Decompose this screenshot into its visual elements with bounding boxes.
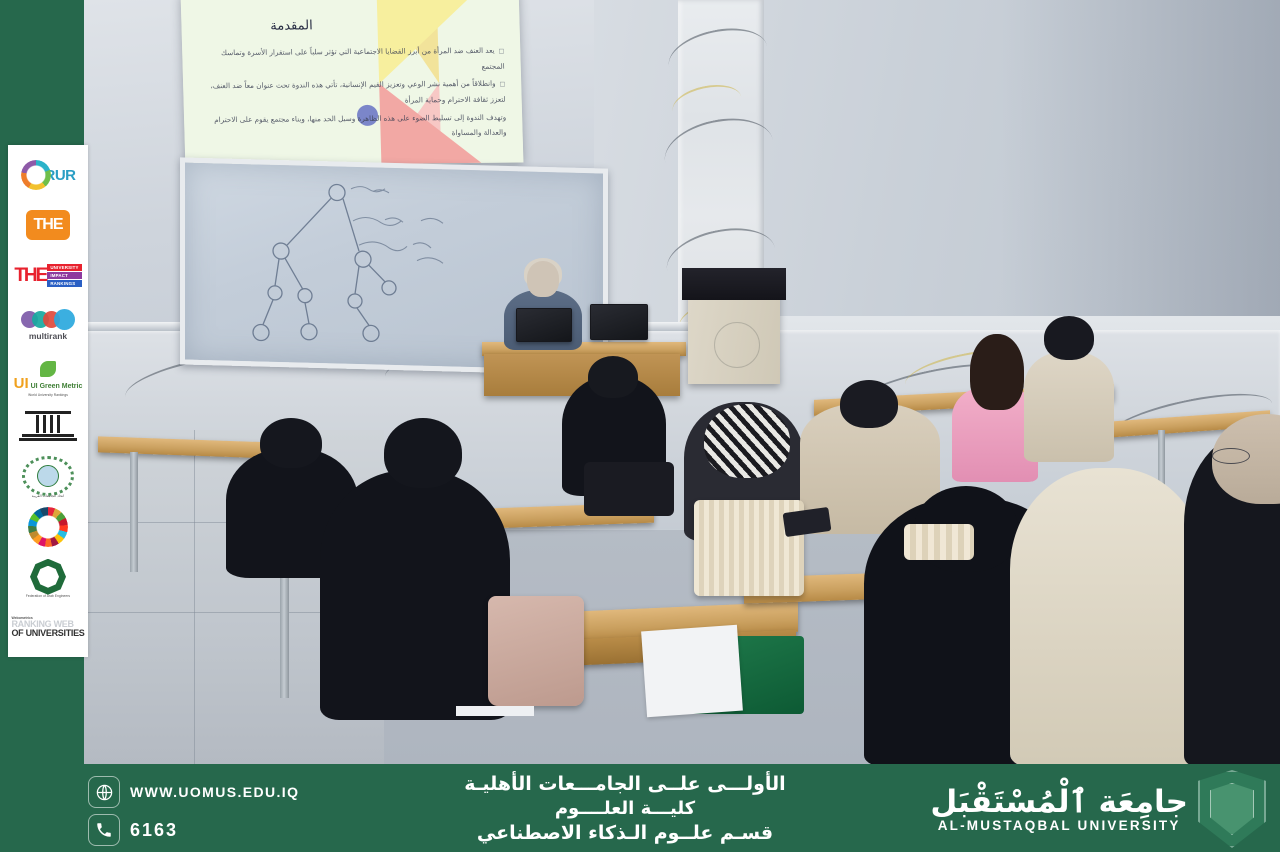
the-impact-line: UNIVERSITY [47,264,81,271]
temple-icon [19,411,77,441]
slide-bullet: وتهدف الندوة إلى تسليط الضوء على هذه الظ… [206,109,507,143]
lecturer-head [527,261,559,297]
the-impact-label: THE [14,265,46,287]
desk-leg [130,452,138,572]
footer-bar: WWW.UOMUS.EDU.IQ 6163 الأولـــى علــى ال… [0,764,1280,852]
webometrics-logo: Webometrics RANKING WEB OF UNIVERSITIES [10,603,86,651]
slide-bullets: يعد العنف ضد المرأة من أبرز القضايا الاج… [204,43,507,145]
footer-headline-line2: كليـــة العلــــوم [300,797,950,821]
greenmetric-ui: UI [14,377,29,391]
student-head [840,380,898,428]
classroom-photo: المقدمة يعد العنف ضد المرأة من أبرز القض… [84,0,1280,766]
slide-title: المقدمة [181,18,401,35]
wreath-globe-icon [20,454,76,498]
arab-engineers-emblem-icon [30,559,66,595]
podium-emblem-icon [714,322,760,368]
website-label: WWW.UOMUS.EDU.IQ [130,784,299,800]
arab-engineers-caption-en: Federation of Arab Engineers [10,595,86,599]
multirank-icon: multirank [21,311,75,341]
federation-arab-engineers-logo: Federation of Arab Engineers [10,553,86,601]
the-impact-icon: THE UNIVERSITY IMPACT RANKINGS [14,264,81,287]
university-brand: جامِعَة ٱلْمُسْتَقْبَل AL-MUSTAQBAL UNIV… [930,770,1266,848]
the-impact-bars: UNIVERSITY IMPACT RANKINGS [47,264,81,287]
globe-www-icon [88,776,120,808]
footer-contact-block: WWW.UOMUS.EDU.IQ 6163 [88,776,299,846]
footer-headline-line1: الأولـــى علــى الجامـــعات الأهليـة [300,772,950,797]
sdg-wheel-icon [28,507,68,547]
qs-temple-logo [10,402,86,450]
the-logo: THE [10,201,86,249]
the-box-icon: THE [26,210,70,240]
arab-universities-union-logo: اتحاد الجامعات العربية [10,452,86,500]
eyeglasses-icon [1212,448,1250,464]
university-shield-emblem [1198,770,1266,848]
laptop-left [516,308,572,342]
student-white-hijab [1010,468,1206,766]
footer-headline-line3: قسـم علــوم الـذكاء الاصطناعي [300,821,950,846]
student-head [260,418,322,468]
the-label: THE [34,216,63,234]
student-head [588,356,638,398]
brand-name-english: AL-MUSTAQBAL UNIVERSITY [938,818,1181,833]
multirank-circles [21,311,75,330]
webometrics-line2: OF UNIVERSITIES [11,629,84,638]
podium-nameplate [682,268,786,300]
the-impact-line: RANKINGS [47,280,81,287]
handbag-pink [488,596,584,706]
student-head [384,418,462,488]
student-head-long-hair [970,334,1024,410]
slide-bullet: يعد العنف ضد المرأة من أبرز القضايا الاج… [204,43,505,77]
u-multirank-logo: multirank [10,302,86,350]
greenmetric-caption: World University Rankings [10,394,86,398]
greenmetric-icon: UI UI Green Metric [14,361,83,391]
ui-greenmetric-logo: UI UI Green Metric World University Rank… [10,352,86,400]
papers-stack [641,625,743,717]
student-front-left [320,470,510,720]
desk-label-strip [456,706,534,716]
rur-logo: RUR [10,151,86,199]
rur-ring-icon [21,160,51,190]
sdg-wheel-logo [10,502,86,550]
phone-label: 6163 [130,820,178,841]
arab-universities-caption: اتحاد الجامعات العربية [10,494,86,498]
screenshot-root: المقدمة يعد العنف ضد المرأة من أبرز القض… [0,0,1280,852]
slide-bullet: وانطلاقاً من أهمية نشر الوعي وتعزيز القي… [205,76,506,110]
footer-phone-row[interactable]: 6163 [88,814,299,846]
accreditation-logo-strip: RUR THE THE UNIVERSITY IMPACT RANKINGS m… [8,145,88,657]
webometrics-text: Webometrics RANKING WEB OF UNIVERSITIES [11,616,84,638]
projected-slide: المقدمة يعد العنف ضد المرأة من أبرز القض… [181,0,524,165]
phone-icon [88,814,120,846]
brand-text-block: جامِعَة ٱلْمُسْتَقْبَل AL-MUSTAQBAL UNIV… [930,785,1188,832]
footer-website-row[interactable]: WWW.UOMUS.EDU.IQ [88,776,299,808]
brand-name-arabic: جامِعَة ٱلْمُسْتَقْبَل [930,785,1188,819]
laptop-right [590,304,648,340]
greenmetric-label: UI Green Metric [31,383,83,390]
multirank-label: multirank [29,331,67,341]
student-head-patterned [704,404,790,478]
footer-headline: الأولـــى علــى الجامـــعات الأهليـة كلي… [300,772,950,846]
the-impact-rankings-logo: THE UNIVERSITY IMPACT RANKINGS [10,251,86,299]
leaf-icon [40,361,56,377]
student-cream-jacket [1024,352,1114,462]
handbag-knit-right [904,524,974,560]
the-impact-line: IMPACT [47,272,81,279]
student-head [1044,316,1094,360]
backpack-black [584,462,674,516]
